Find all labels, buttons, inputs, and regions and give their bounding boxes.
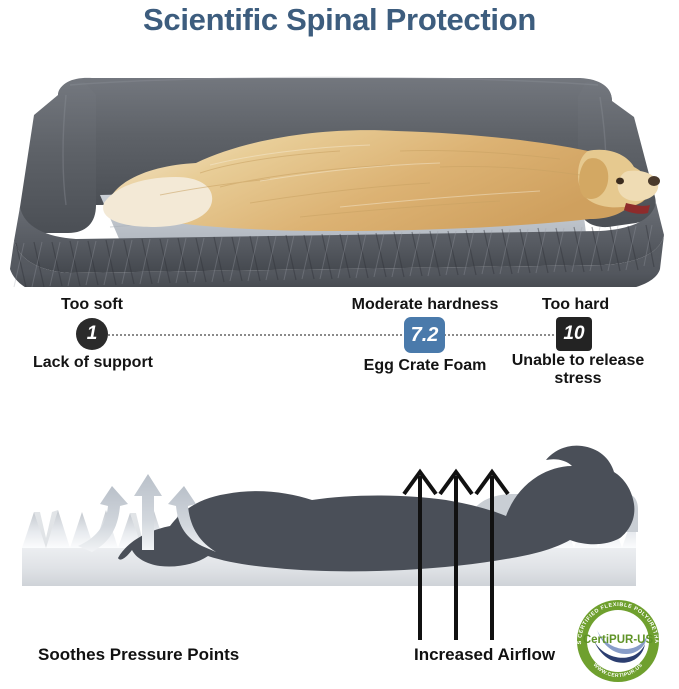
certipur-us-badge: CONTAINS CERTIFIED FLEXIBLE POLYURETHANE… <box>571 598 665 684</box>
scale-label-moderate-hardness: Moderate hardness <box>335 296 515 314</box>
scale-label-egg-crate-foam: Egg Crate Foam <box>340 357 510 375</box>
product-infographic: Scientific Spinal Protection <box>0 0 679 689</box>
scale-label-too-soft: Too soft <box>22 296 162 314</box>
caption-increased-airflow: Increased Airflow <box>414 645 555 665</box>
badge-center-text: CertiPUR-US <box>583 634 654 646</box>
scale-marker-10: 10 <box>556 317 592 351</box>
hardness-scale-line <box>92 334 566 336</box>
scale-label-lack-of-support: Lack of support <box>8 354 178 372</box>
scale-marker-72: 7.2 <box>404 317 445 353</box>
badge-trademark: ® <box>655 631 659 638</box>
page-title: Scientific Spinal Protection <box>0 2 679 38</box>
scale-label-too-hard: Too hard <box>513 296 638 314</box>
scale-label-unable-to-release-stress: Unable to release stress <box>508 352 648 388</box>
scale-marker-1: 1 <box>76 318 108 350</box>
caption-soothes-pressure-points: Soothes Pressure Points <box>38 645 239 665</box>
product-photo <box>0 55 679 287</box>
